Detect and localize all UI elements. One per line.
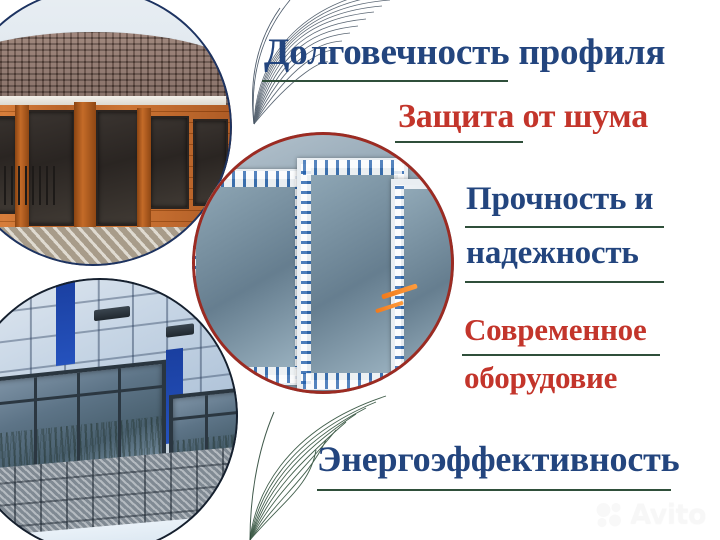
protective-film-strip	[303, 160, 403, 175]
corner-pillar	[137, 108, 151, 230]
protective-film-strip	[192, 175, 196, 379]
blue-accent-panel	[56, 278, 75, 366]
headline-efficiency: Энергоэффективность	[317, 438, 679, 480]
headline-equipment-line1-underline	[462, 354, 660, 356]
headline-equipment-line2: оборудовие	[464, 360, 617, 396]
window-glass	[192, 179, 299, 375]
window-glass	[307, 168, 399, 380]
headline-durability: Долговечность профиля	[264, 31, 665, 74]
promo-banner: Долговечность профиля Защита от шума Про…	[0, 0, 720, 540]
window-unit	[391, 179, 454, 374]
photo-pvc-window-units	[192, 132, 454, 394]
balcony-railing	[0, 166, 60, 205]
headline-efficiency-underline	[317, 489, 671, 491]
headline-noise: Защита от шума	[398, 98, 648, 136]
protective-film-strip	[395, 185, 404, 368]
window-glass	[401, 189, 454, 364]
window-unit	[192, 169, 309, 385]
corner-pillar	[74, 102, 96, 235]
headline-strength-line1: Прочность и	[466, 181, 653, 218]
house-window	[96, 110, 142, 225]
headline-strength-line1-underline	[465, 226, 664, 228]
protective-film-strip	[192, 171, 303, 187]
avito-dots-icon	[595, 502, 625, 528]
avito-watermark: Avito	[595, 499, 706, 530]
headline-equipment-line1: Современное	[464, 312, 647, 348]
house-window	[149, 116, 189, 209]
headline-strength-line2: надежность	[466, 235, 639, 272]
protective-film-strip	[192, 367, 303, 383]
avito-wordmark: Avito	[630, 499, 706, 530]
protective-film-strip	[301, 164, 311, 384]
headline-durability-underline	[262, 80, 508, 82]
headline-strength-line2-underline	[465, 281, 664, 283]
headline-noise-underline	[395, 141, 523, 143]
protective-film-strip	[303, 373, 403, 388]
